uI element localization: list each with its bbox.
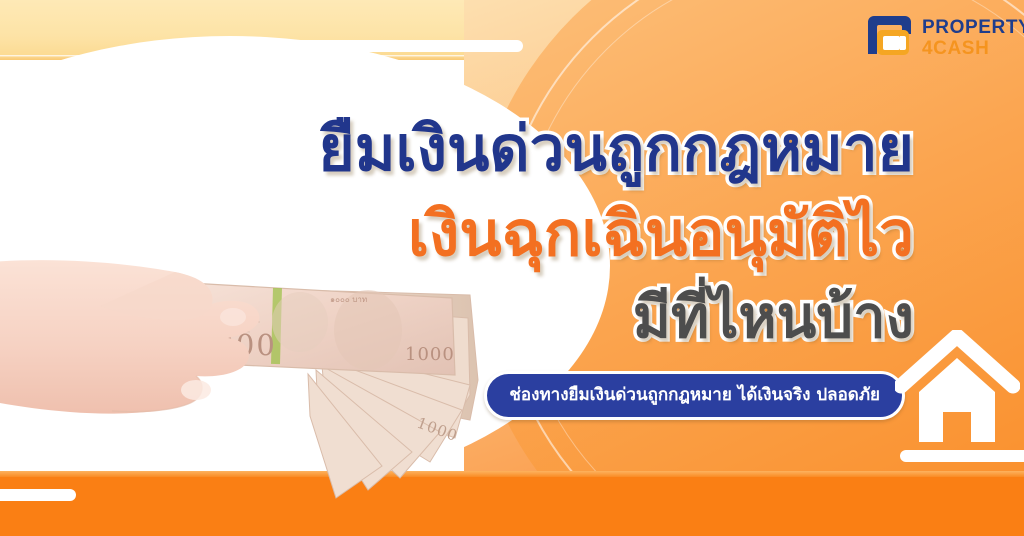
house-icon	[895, 330, 1020, 450]
property4cash-logo-icon	[866, 14, 913, 62]
brand-logo[interactable]: PROPERTY 4CASH	[866, 14, 1024, 62]
svg-text:1000: 1000	[405, 344, 455, 365]
top-decorative-pill	[238, 40, 523, 52]
subtitle-badge: ช่องทางยืมเงินด่วนถูกกฎหมาย ได้เงินจริง …	[484, 371, 905, 420]
hand	[0, 260, 259, 413]
promo-banner: 1000 1000 ๑๐๐๐ บาท 1000	[0, 0, 1024, 536]
bottom-right-decorative-pill	[900, 450, 1024, 462]
brand-wordmark: PROPERTY 4CASH	[922, 18, 1024, 58]
hand-with-banknotes-photo: 1000 1000 ๑๐๐๐ บาท 1000	[0, 170, 500, 500]
brand-name-line1: PROPERTY	[922, 18, 1024, 37]
brand-name-line2: 4CASH	[922, 39, 1024, 58]
svg-text:๑๐๐๐ บาท: ๑๐๐๐ บาท	[330, 295, 367, 304]
